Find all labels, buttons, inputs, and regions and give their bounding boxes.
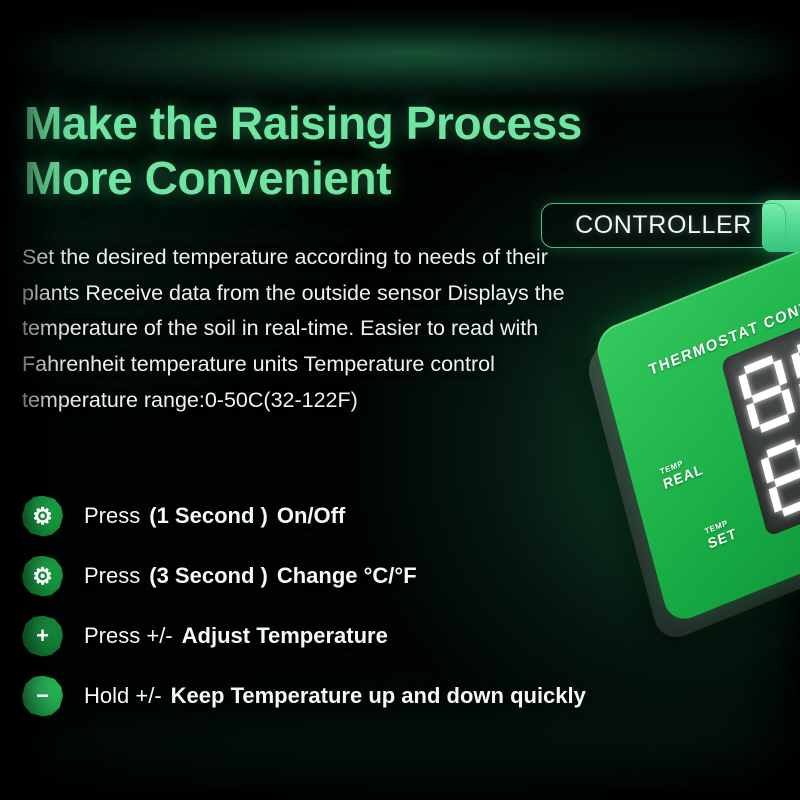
minus-icon: − [22,676,63,717]
description-paragraph: Set the desired temperature according to… [22,240,588,418]
device-illustration: ✕ THERMOSTAT CONTROLLER [560,300,800,730]
instruction-text: Press(1 Second )On/Off [84,503,345,529]
instruction-text: Press(3 Second )Change °C/°F [84,563,417,589]
page-title: Make the Raising Process More Convenient [24,96,664,205]
instruction-text: Hold +/-Keep Temperature up and down qui… [84,683,586,709]
device-label-temp-set: TEMP SET [704,517,739,552]
device-front-face: THERMOSTAT CONTROLLER [592,222,800,626]
headline-line-2: More Convenient [24,151,664,206]
plus-icon: + [22,616,63,657]
controller-badge-label: CONTROLLER [575,211,752,240]
instruction-result: Change °C/°F [277,563,417,588]
minus-icon-glyph: − [36,685,49,707]
plus-icon-glyph: + [36,625,49,647]
instruction-result: On/Off [277,503,345,528]
seven-segment-digit [735,351,798,437]
gear-icon: ⚙ [22,496,63,537]
gear-icon-glyph: ⚙ [32,505,53,528]
instruction-result: Adjust Temperature [182,623,388,648]
instruction-action: Press +/- [84,623,173,648]
seven-segment-digit [758,435,800,521]
instruction-action: Press [84,503,140,528]
gear-icon: ⚙ [22,556,63,597]
instruction-action: Hold +/- [84,683,162,708]
controller-badge: CONTROLLER [541,203,786,248]
product-banner: ✕ THERMOSTAT CONTROLLER [0,0,800,800]
instruction-result: Keep Temperature up and down quickly [171,683,586,708]
gear-icon-glyph: ⚙ [32,565,53,588]
instruction-action: Press [84,563,140,588]
instruction-text: Press +/-Adjust Temperature [84,623,388,649]
device-brand-line2: CONTROLLER [762,271,800,333]
headline-line-1: Make the Raising Process [24,96,664,151]
instruction-duration: (1 Second ) [149,503,268,528]
thermostat-controller-device: THERMOSTAT CONTROLLER [592,222,800,626]
device-label-temp-real: TEMP REAL [659,453,705,492]
instruction-duration: (3 Second ) [149,563,268,588]
